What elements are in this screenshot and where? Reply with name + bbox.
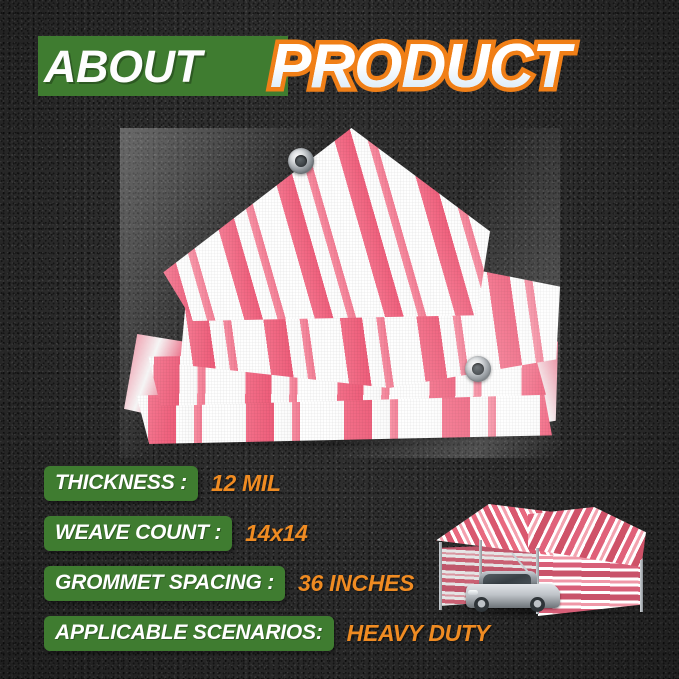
infographic-page: ABOUT PRODUCT PRODUCT THICKNESS : 12 MIL… — [0, 0, 679, 679]
car-wheel — [474, 597, 489, 612]
spec-label-weave-count: WEAVE COUNT : — [44, 516, 232, 551]
car-illustration — [466, 570, 560, 610]
spec-value-thickness: 12 MIL — [211, 470, 281, 496]
spec-row-applicable-scenarios: APPLICABLE SCENARIOS: HEAVY DUTY — [44, 615, 490, 651]
header-title-product: PRODUCT — [270, 32, 570, 102]
spec-row-grommet-spacing: GROMMET SPACING : 36 INCHES — [44, 565, 414, 601]
tarp-top-flap — [160, 128, 490, 323]
spec-row-weave-count: WEAVE COUNT : 14x14 — [44, 515, 308, 551]
carport-frame-post — [640, 560, 643, 612]
spec-row-thickness: THICKNESS : 12 MIL — [44, 465, 281, 501]
page-header: ABOUT PRODUCT PRODUCT — [0, 28, 679, 106]
header-title-about: ABOUT — [44, 44, 284, 90]
scenario-photo-carport — [432, 500, 644, 618]
spec-value-grommet-spacing: 36 INCHES — [298, 570, 414, 596]
carport-frame-post — [439, 542, 442, 610]
grommet-icon — [465, 356, 491, 382]
car-headlight — [468, 590, 478, 595]
spec-label-applicable-scenarios: APPLICABLE SCENARIOS: — [44, 616, 334, 651]
grommet-icon — [288, 148, 314, 174]
spec-label-grommet-spacing: GROMMET SPACING : — [44, 566, 285, 601]
product-photo-tarp — [120, 128, 560, 458]
car-wheel — [530, 597, 545, 612]
spec-value-weave-count: 14x14 — [245, 520, 307, 546]
spec-value-applicable-scenarios: HEAVY DUTY — [347, 620, 490, 646]
spec-label-thickness: THICKNESS : — [44, 466, 198, 501]
